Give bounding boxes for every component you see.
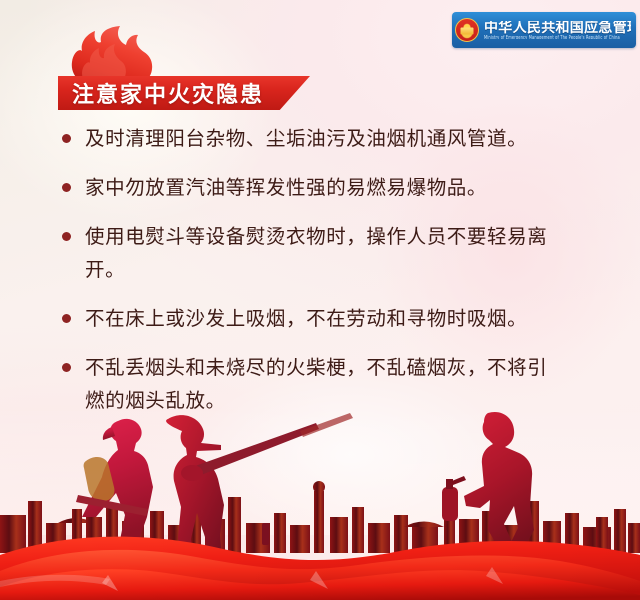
ministry-logo: 中华人民共和国应急管理部 Ministry of Emergency Manag… (452, 12, 636, 48)
tips-list: 及时清理阳台杂物、尘垢油污及油烟机通风管道。 家中勿放置汽油等挥发性强的易燃易爆… (62, 122, 582, 433)
tip-text: 家中勿放置汽油等挥发性强的易燃易爆物品。 (85, 171, 487, 204)
bullet-dot-icon (62, 183, 71, 192)
list-item: 家中勿放置汽油等挥发性强的易燃易爆物品。 (62, 171, 582, 204)
list-item: 使用电熨斗等设备熨烫衣物时，操作人员不要轻易离开。 (62, 220, 582, 286)
tip-text: 使用电熨斗等设备熨烫衣物时，操作人员不要轻易离开。 (85, 220, 563, 286)
firefighter-hand (181, 465, 203, 481)
bullet-dot-icon (62, 314, 71, 323)
tip-text: 不在床上或沙发上吸烟，不在劳动和寻物时吸烟。 (85, 302, 527, 335)
poster-title: 注意家中火灾隐患 (72, 77, 264, 109)
title-banner: 注意家中火灾隐患 (58, 26, 318, 104)
tip-text: 及时清理阳台杂物、尘垢油污及油烟机通风管道。 (85, 122, 527, 155)
title-banner-shape: 注意家中火灾隐患 (58, 76, 310, 110)
bullet-dot-icon (62, 232, 71, 241)
ministry-name-chinese: 中华人民共和国应急管理部 (484, 21, 631, 35)
ministry-logo-text: 中华人民共和国应急管理部 Ministry of Emergency Manag… (484, 21, 631, 40)
bullet-dot-icon (62, 363, 71, 372)
list-item: 及时清理阳台杂物、尘垢油污及油烟机通风管道。 (62, 122, 582, 155)
list-item: 不在床上或沙发上吸烟，不在劳动和寻物时吸烟。 (62, 302, 582, 335)
bullet-dot-icon (62, 134, 71, 143)
national-emblem-icon (455, 18, 479, 42)
hydrant-icon (262, 523, 269, 545)
ministry-name-english: Ministry of Emergency Management of The … (484, 36, 631, 40)
firefighter-silhouette-scene (0, 405, 640, 600)
fire-safety-poster: 中华人民共和国应急管理部 Ministry of Emergency Manag… (0, 0, 640, 600)
